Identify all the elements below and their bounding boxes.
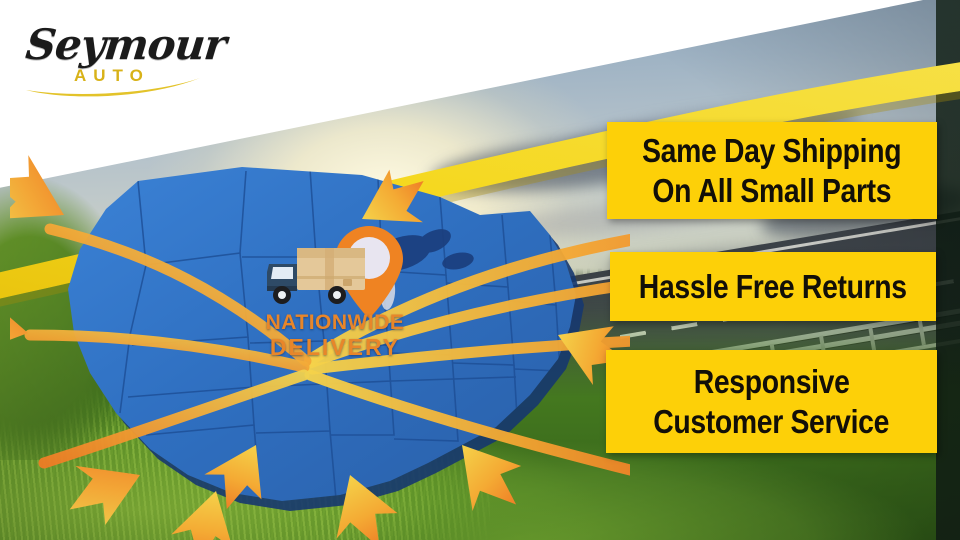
callout-responsive-customer-service[interactable]: Responsive Customer Service (606, 350, 937, 453)
delivery-truck-icon (265, 246, 375, 308)
callout-hassle-free-returns[interactable]: Hassle Free Returns (610, 252, 936, 321)
delivery-caption-line2: DELIVERY (255, 335, 415, 360)
nationwide-delivery-badge: NATIONWIDE DELIVERY (255, 222, 435, 372)
delivery-caption: NATIONWIDE DELIVERY (255, 310, 415, 360)
brand-name: Seymour (23, 20, 228, 69)
brand-subtitle: AUTO (74, 66, 150, 86)
callout-line: Responsive (694, 362, 850, 402)
callout-same-day-shipping[interactable]: Same Day Shipping On All Small Parts (607, 122, 937, 219)
promo-banner: Seymour AUTO (0, 0, 960, 540)
delivery-caption-line1: NATIONWIDE (255, 310, 415, 335)
callout-line: Hassle Free Returns (639, 267, 907, 307)
brand-logo[interactable]: Seymour AUTO (18, 14, 208, 96)
callout-line: Same Day Shipping (642, 131, 901, 171)
callout-line: Customer Service (654, 402, 890, 442)
photo-right-shade (936, 0, 960, 540)
callout-line: On All Small Parts (653, 171, 892, 211)
